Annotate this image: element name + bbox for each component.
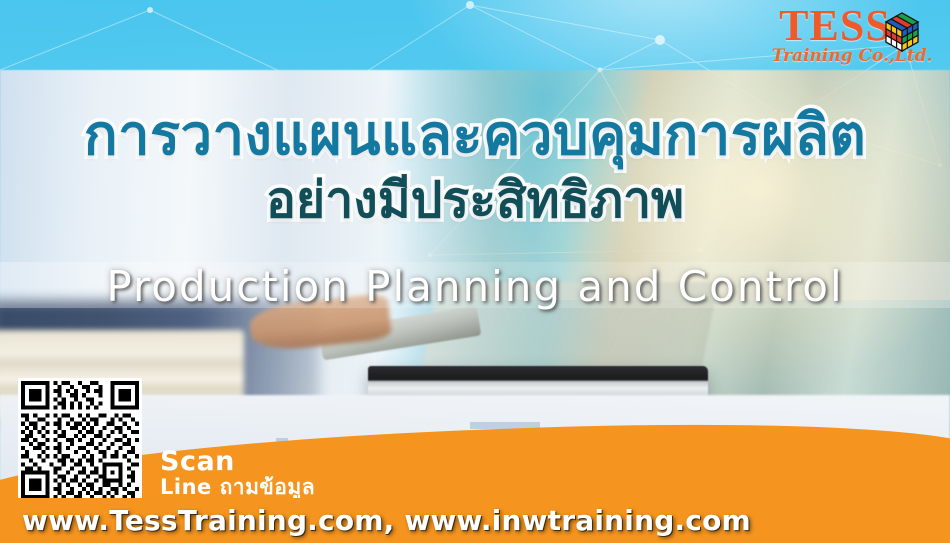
scan-heading: Scan [160, 449, 315, 475]
english-subtitle: Production Planning and Control [0, 264, 950, 310]
title-block: การวางแผนและควบคุมการผลิต อย่างมีประสิทธ… [0, 104, 950, 230]
rubiks-cube-icon [878, 6, 930, 58]
footer-urls[interactable]: www.TessTraining.com, www.inwtraining.co… [22, 504, 751, 538]
qr-code[interactable] [18, 378, 142, 502]
qr-code-image [21, 381, 139, 499]
course-banner: TESS Training Co.,Ltd. [0, 0, 950, 543]
footer-url-bar: www.TessTraining.com, www.inwtraining.co… [0, 498, 950, 543]
tess-logo[interactable]: TESS Training Co.,Ltd. [768, 4, 936, 80]
scan-instruction: Scan Line ถามข้อมูล [160, 449, 315, 499]
thai-title-line-2: อย่างมีประสิทธิภาพ [0, 170, 950, 230]
thai-title-line-1: การวางแผนและควบคุมการผลิต [0, 104, 950, 168]
scan-subheading: Line ถามข้อมูล [160, 475, 315, 499]
